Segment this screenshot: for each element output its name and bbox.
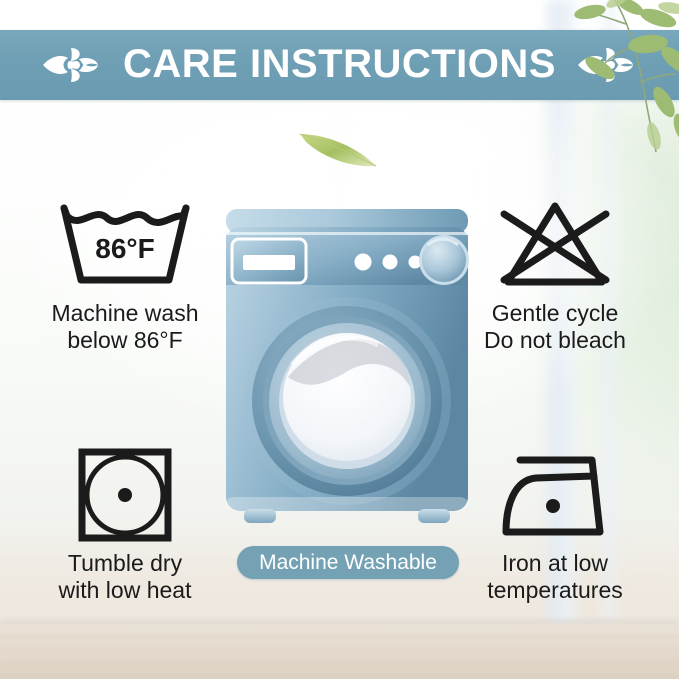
wash-tub-icon: 86°F: [50, 196, 200, 292]
fleur-de-lis-icon-left: [41, 42, 103, 88]
tumble-dry-low-heat-icon: [50, 446, 200, 542]
page-title: CARE INSTRUCTIONS: [117, 44, 562, 86]
leaf-branch-icon: [560, 0, 679, 154]
symbol-iron: Iron at low temperatures: [444, 446, 666, 604]
iron-low-temperature-icon: [480, 446, 630, 542]
floating-leaf-icon: [296, 124, 380, 172]
machine-feet: [244, 509, 450, 523]
wood-grain-texture: [0, 623, 679, 679]
caption-do-not-bleach: Gentle cycle Do not bleach: [484, 300, 626, 354]
wash-temperature-value: 86°F: [95, 233, 154, 264]
symbol-machine-wash: 86°F Machine wash below 86°F: [14, 196, 236, 354]
care-instructions-infographic: CARE INSTRUCTIONS: [0, 0, 679, 679]
washing-machine-illustration: [222, 205, 472, 540]
caption-iron: Iron at low temperatures: [487, 550, 623, 604]
badge-label: Machine Washable: [259, 552, 437, 573]
detergent-drawer: [232, 239, 306, 283]
caption-tumble-dry: Tumble dry with low heat: [59, 550, 192, 604]
machine-washable-badge: Machine Washable: [237, 546, 459, 579]
do-not-bleach-triangle-icon: [480, 196, 630, 292]
caption-machine-wash: Machine wash below 86°F: [51, 300, 198, 354]
symbol-do-not-bleach: Gentle cycle Do not bleach: [444, 196, 666, 354]
symbol-tumble-dry: Tumble dry with low heat: [14, 446, 236, 604]
